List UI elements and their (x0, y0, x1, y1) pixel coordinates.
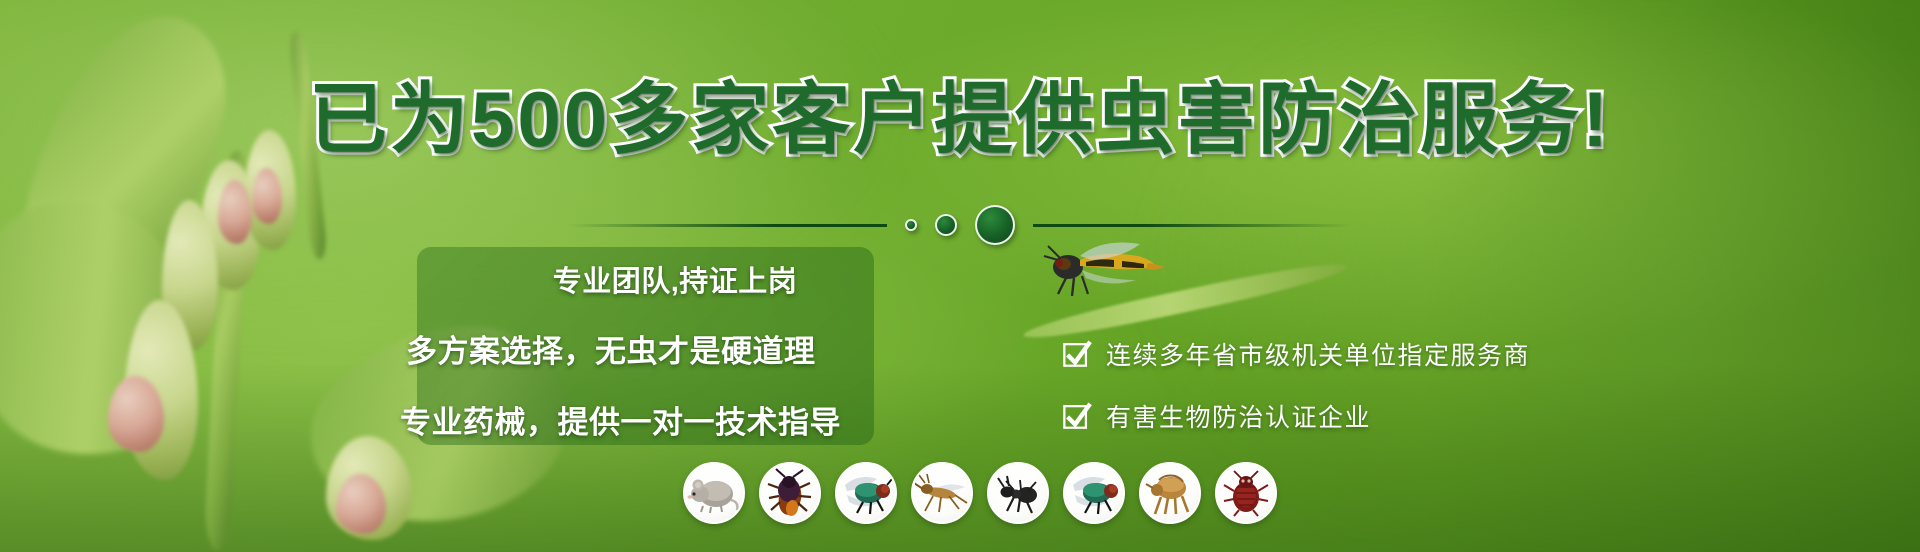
bedbug-glyph (1222, 469, 1270, 517)
selling-points-text-group: 专业团队,持证上岗 多方案选择，无虫才是硬道理 专业药械，提供一对一技术指导 (400, 258, 920, 442)
pest-control-hero-banner: 已为500多家客户提供虫害防治服务! 专业团队,持证上 (0, 0, 1920, 552)
banner-headline: 已为500多家客户提供虫害防治服务! (0, 80, 1920, 158)
mosquito-icon[interactable] (911, 462, 973, 524)
credentials-list: 连续多年省市级机关单位指定服务商 有害生物防治认证企业 (1062, 336, 1530, 460)
credential-label: 连续多年省市级机关单位指定服务商 (1106, 336, 1530, 372)
blowfly-icon[interactable] (1063, 462, 1125, 524)
credential-item: 有害生物防治认证企业 (1062, 398, 1530, 434)
selling-point-line-1: 专业团队,持证上岗 (400, 258, 920, 300)
selling-point-line-3: 专业药械，提供一对一技术指导 (400, 397, 920, 442)
banner-headline-text: 已为500多家客户提供虫害防治服务! (309, 75, 1611, 163)
cockroach-icon[interactable] (759, 462, 821, 524)
fly-icon[interactable] (835, 462, 897, 524)
hoverfly-svg (1040, 240, 1170, 302)
selling-point-line-2: 多方案选择，无虫才是硬道理 (400, 326, 920, 371)
pest-type-icon-row (683, 462, 1277, 524)
hoverfly-illustration (1040, 240, 1170, 302)
flea-glyph (1145, 470, 1195, 516)
ant-glyph (994, 471, 1042, 515)
bedbug-icon[interactable] (1215, 462, 1277, 524)
blowfly-glyph (1067, 471, 1121, 515)
fly-glyph (839, 471, 893, 515)
mouse-glyph (687, 470, 741, 516)
mosquito-glyph (915, 471, 969, 515)
ant-icon[interactable] (987, 462, 1049, 524)
checkbox-check-icon (1062, 339, 1092, 369)
cockroach-glyph (766, 468, 814, 518)
mouse-icon[interactable] (683, 462, 745, 524)
flea-icon[interactable] (1139, 462, 1201, 524)
credential-label: 有害生物防治认证企业 (1106, 398, 1371, 434)
credential-item: 连续多年省市级机关单位指定服务商 (1062, 336, 1530, 372)
checkbox-check-icon (1062, 401, 1092, 431)
